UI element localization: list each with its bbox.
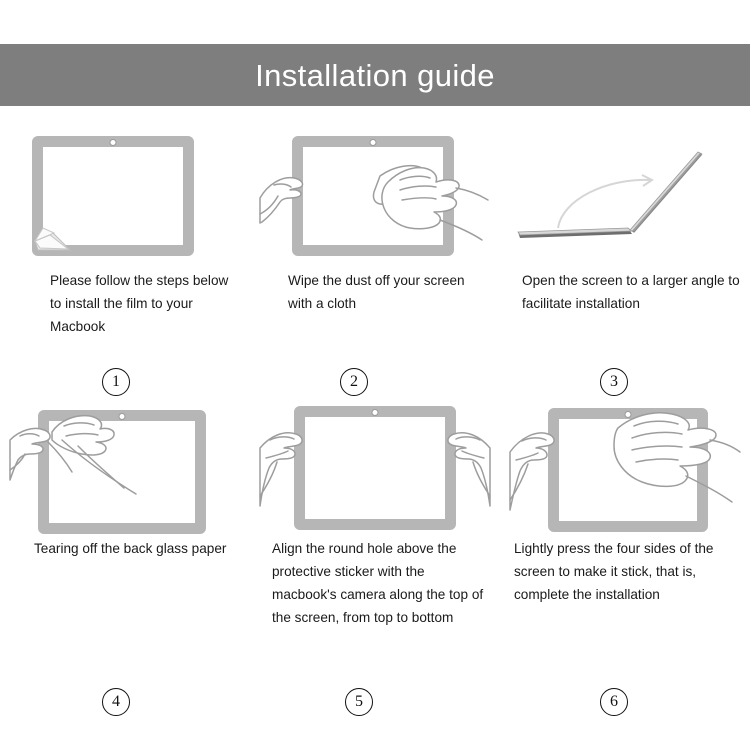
step-badge-6: 6 [600,688,628,716]
step-card-4: Tearing off the back glass paper 4 [0,396,250,629]
step-3-caption: Open the screen to a larger angle to fac… [522,269,750,315]
step-5-caption: Align the round hole above the protectiv… [272,537,500,629]
step-6-caption: Lightly press the four sides of the scre… [514,537,750,606]
step-4-caption: Tearing off the back glass paper [34,537,250,560]
step-card-2: Wipe the dust off your screen with a clo… [250,128,500,396]
step-1-caption: Please follow the steps below to install… [50,269,250,338]
header-banner: Installation guide [0,44,750,106]
page-title: Installation guide [255,60,495,91]
installation-steps-grid: Please follow the steps below to install… [0,128,750,629]
laptop-opening-side-view-icon [510,128,740,263]
step-card-3: Open the screen to a larger angle to fac… [500,128,750,396]
step-card-5: Align the round hole above the protectiv… [250,396,500,629]
step-badge-4: 4 [102,688,130,716]
step-6-illustration [510,396,740,531]
step-2-caption: Wipe the dust off your screen with a clo… [288,269,500,315]
step-badge-3: 3 [600,368,628,396]
step-4-illustration [10,396,240,531]
step-2-illustration [260,128,490,263]
step-1-illustration [10,128,240,263]
peeling-film-corner-icon [10,128,240,263]
step-badge-1: 1 [102,368,130,396]
hand-peeling-backing-paper-icon [10,396,240,531]
hand-wiping-screen-icon [260,128,490,263]
step-5-illustration [260,396,490,531]
step-badge-2: 2 [340,368,368,396]
flat-hand-pressing-screen-icon [510,396,740,531]
two-hands-aligning-film-icon [260,396,490,531]
step-card-1: Please follow the steps below to install… [0,128,250,396]
step-badge-5: 5 [345,688,373,716]
step-card-6: Lightly press the four sides of the scre… [500,396,750,629]
step-3-illustration [510,128,740,263]
